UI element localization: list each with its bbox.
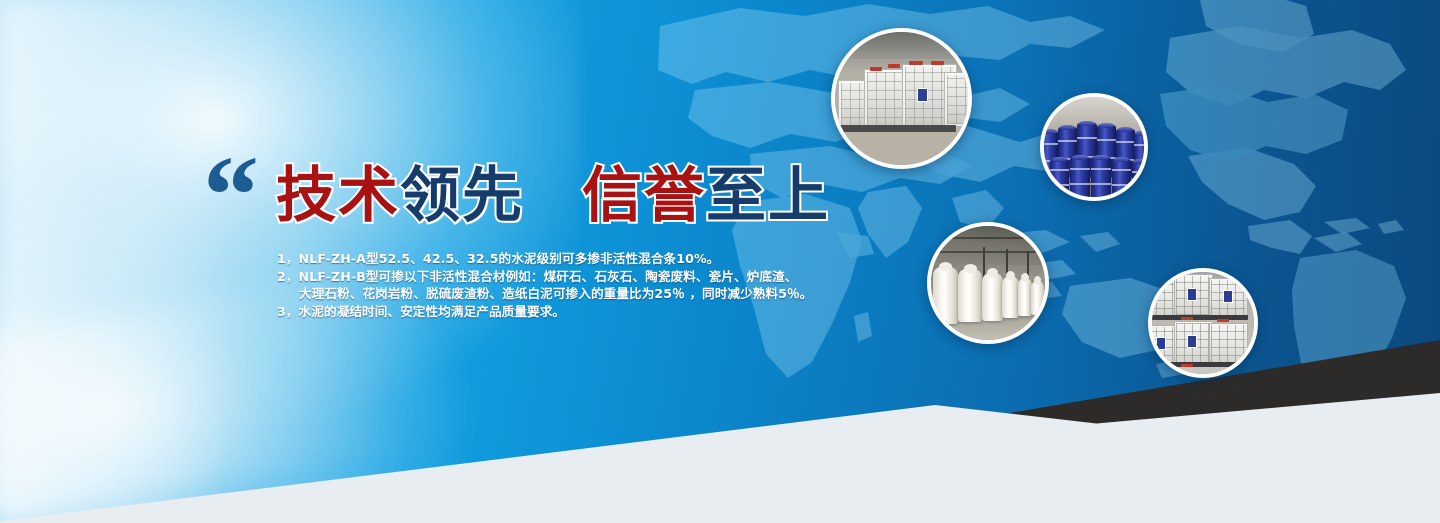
ibc-totes-stacked-photo[interactable] xyxy=(1148,268,1258,378)
body-line-2: 2，NLF-ZH-B型可掺以下非活性混合材例如：煤矸石、石灰石、陶瓷废料、瓷片、… xyxy=(277,268,877,286)
headline-segment-3: 信誉 xyxy=(582,166,706,226)
headline: 技术 领先 信誉 至上 xyxy=(276,166,830,226)
body-line-4: 3，水泥的凝结时间、安定性均满足产品质量要求。 xyxy=(277,303,877,321)
blue-drums-photo[interactable] xyxy=(1040,93,1148,201)
headline-segment-1: 技术 xyxy=(276,166,400,226)
headline-segment-4: 至上 xyxy=(706,166,830,226)
promo-banner: “ 技术 领先 信誉 至上 1，NLF-ZH-A型52.5、42.5、32.5的… xyxy=(0,0,1440,523)
body-line-1: 1，NLF-ZH-A型52.5、42.5、32.5的水泥级别可多掺非活性混合条1… xyxy=(277,250,877,268)
body-line-3: 大理石粉、花岗岩粉、脱硫废渣粉、造纸白泥可掺入的重量比为25％ ，同时减少熟料5… xyxy=(277,285,877,303)
white-storage-tanks-photo[interactable] xyxy=(927,222,1049,344)
headline-segment-2: 领先 xyxy=(400,166,524,226)
ibc-totes-yard-photo[interactable] xyxy=(831,28,972,169)
quote-mark-icon: “ xyxy=(203,140,255,252)
body-copy: 1，NLF-ZH-A型52.5、42.5、32.5的水泥级别可多掺非活性混合条1… xyxy=(277,250,877,320)
